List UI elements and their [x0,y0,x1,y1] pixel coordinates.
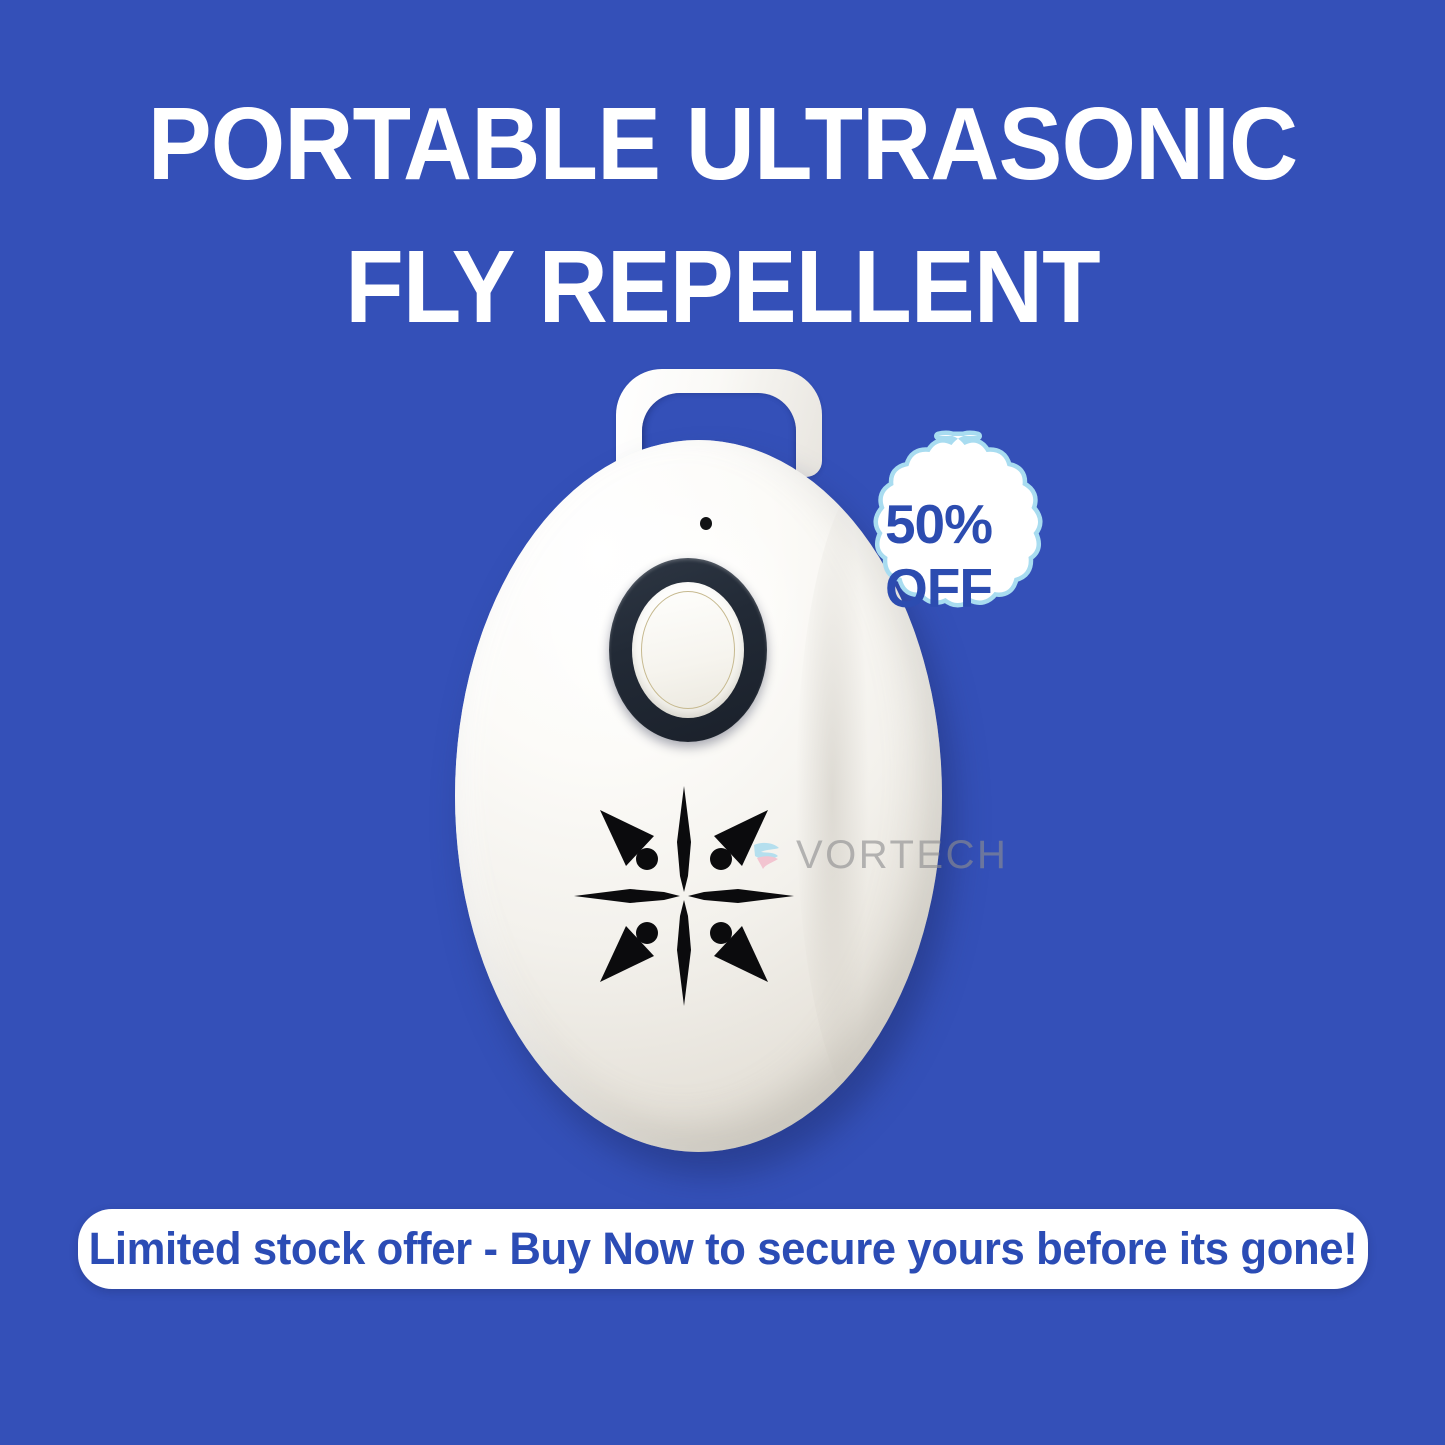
promo-banner-text: Limited stock offer - Buy Now to secure … [89,1223,1358,1275]
led-indicator-icon [700,517,712,530]
power-button[interactable] [609,558,767,742]
headline-line-1: PORTABLE ULTRASONIC [51,72,1395,215]
product-ad-poster: PORTABLE ULTRASONIC FLY REPELLENT [0,0,1445,1445]
power-button-inner [632,582,744,718]
badge-off-label: OFF [885,558,992,618]
ultrasonic-burst-emblem-icon [568,780,800,1012]
discount-badge: 50% OFF [831,428,1046,683]
power-button-core [641,591,735,709]
badge-label-group: 50% OFF [831,428,1046,683]
page-title: PORTABLE ULTRASONIC FLY REPELLENT [51,72,1395,358]
badge-percent: 50% [885,494,992,554]
headline-line-2: FLY REPELLENT [51,215,1395,358]
promo-banner[interactable]: Limited stock offer - Buy Now to secure … [78,1209,1368,1289]
